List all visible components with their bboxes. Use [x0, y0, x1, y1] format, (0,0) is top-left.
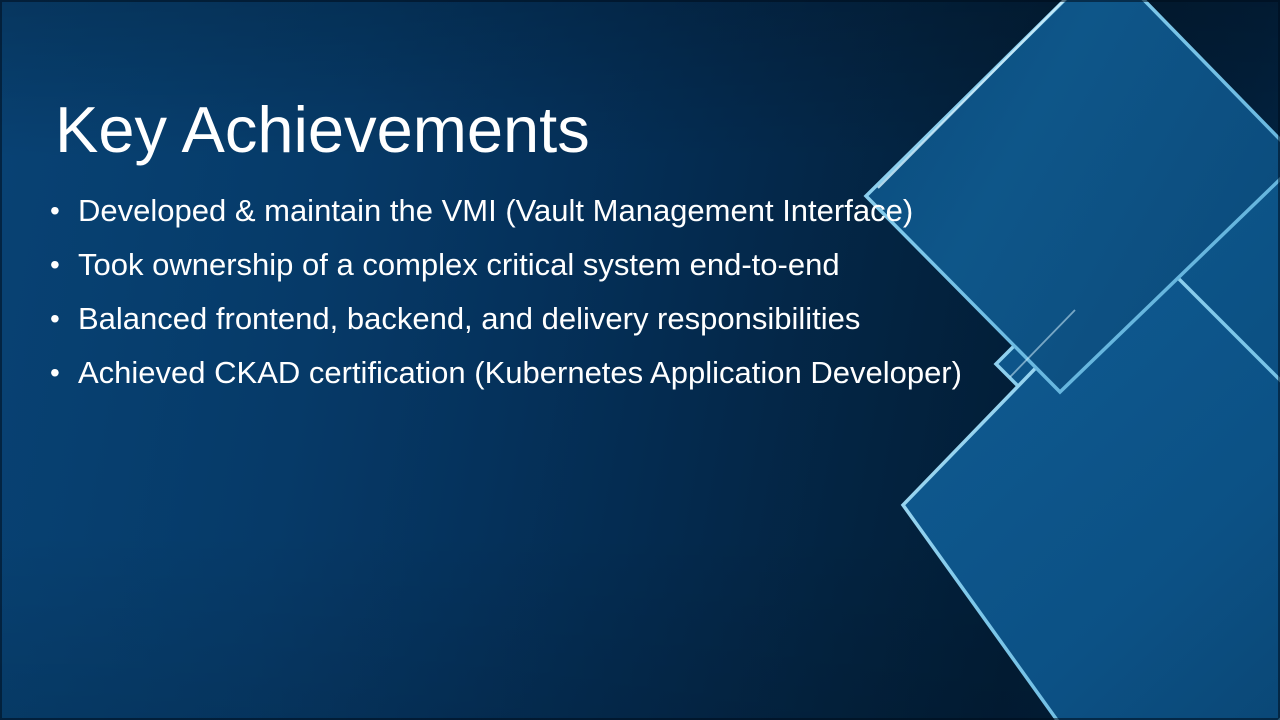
- slide-content: Key Achievements • Developed & maintain …: [0, 0, 1280, 720]
- bullet-dot-icon: •: [50, 292, 78, 346]
- list-item: • Balanced frontend, backend, and delive…: [50, 292, 1050, 346]
- list-item: • Took ownership of a complex critical s…: [50, 238, 1050, 292]
- bullet-dot-icon: •: [50, 238, 78, 292]
- list-item: • Developed & maintain the VMI (Vault Ma…: [50, 184, 1050, 238]
- list-item-label: Achieved CKAD certification (Kubernetes …: [78, 346, 962, 400]
- list-item-label: Balanced frontend, backend, and delivery…: [78, 292, 860, 346]
- bullet-dot-icon: •: [50, 184, 78, 238]
- page-title: Key Achievements: [55, 94, 590, 166]
- list-item-label: Developed & maintain the VMI (Vault Mana…: [78, 184, 913, 238]
- bullet-list: • Developed & maintain the VMI (Vault Ma…: [50, 184, 1050, 400]
- bullet-dot-icon: •: [50, 346, 78, 400]
- list-item-label: Took ownership of a complex critical sys…: [78, 238, 840, 292]
- presentation-slide: Key Achievements • Developed & maintain …: [0, 0, 1280, 720]
- list-item: • Achieved CKAD certification (Kubernete…: [50, 346, 1050, 400]
